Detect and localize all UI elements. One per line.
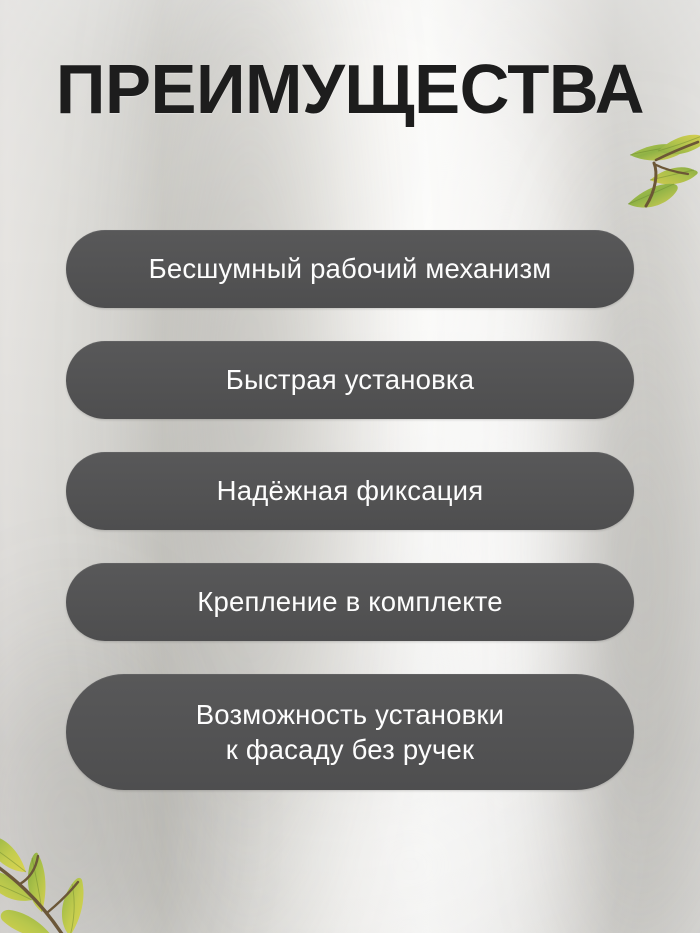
- benefit-pill-label: Возможность установки к фасаду без ручек: [196, 697, 504, 767]
- benefit-pill-label: Надёжная фиксация: [217, 473, 484, 508]
- benefit-pill-label: Быстрая установка: [226, 362, 474, 397]
- benefit-pill-label: Бесшумный рабочий механизм: [149, 251, 552, 286]
- benefits-list: Бесшумный рабочий механизм Быстрая устан…: [66, 230, 634, 790]
- benefit-pill-5[interactable]: Возможность установки к фасаду без ручек: [66, 674, 634, 790]
- benefit-pill-3[interactable]: Надёжная фиксация: [66, 452, 634, 530]
- benefit-pill-4[interactable]: Крепление в комплекте: [66, 563, 634, 641]
- page-title: ПРЕИМУЩЕСТВА: [5, 54, 695, 124]
- promo-benefits-slide: ПРЕИМУЩЕСТВА Бесшумный рабочий механизм …: [0, 0, 700, 933]
- benefit-pill-2[interactable]: Быстрая установка: [66, 341, 634, 419]
- benefit-pill-label: Крепление в комплекте: [197, 584, 502, 619]
- benefit-pill-1[interactable]: Бесшумный рабочий механизм: [66, 230, 634, 308]
